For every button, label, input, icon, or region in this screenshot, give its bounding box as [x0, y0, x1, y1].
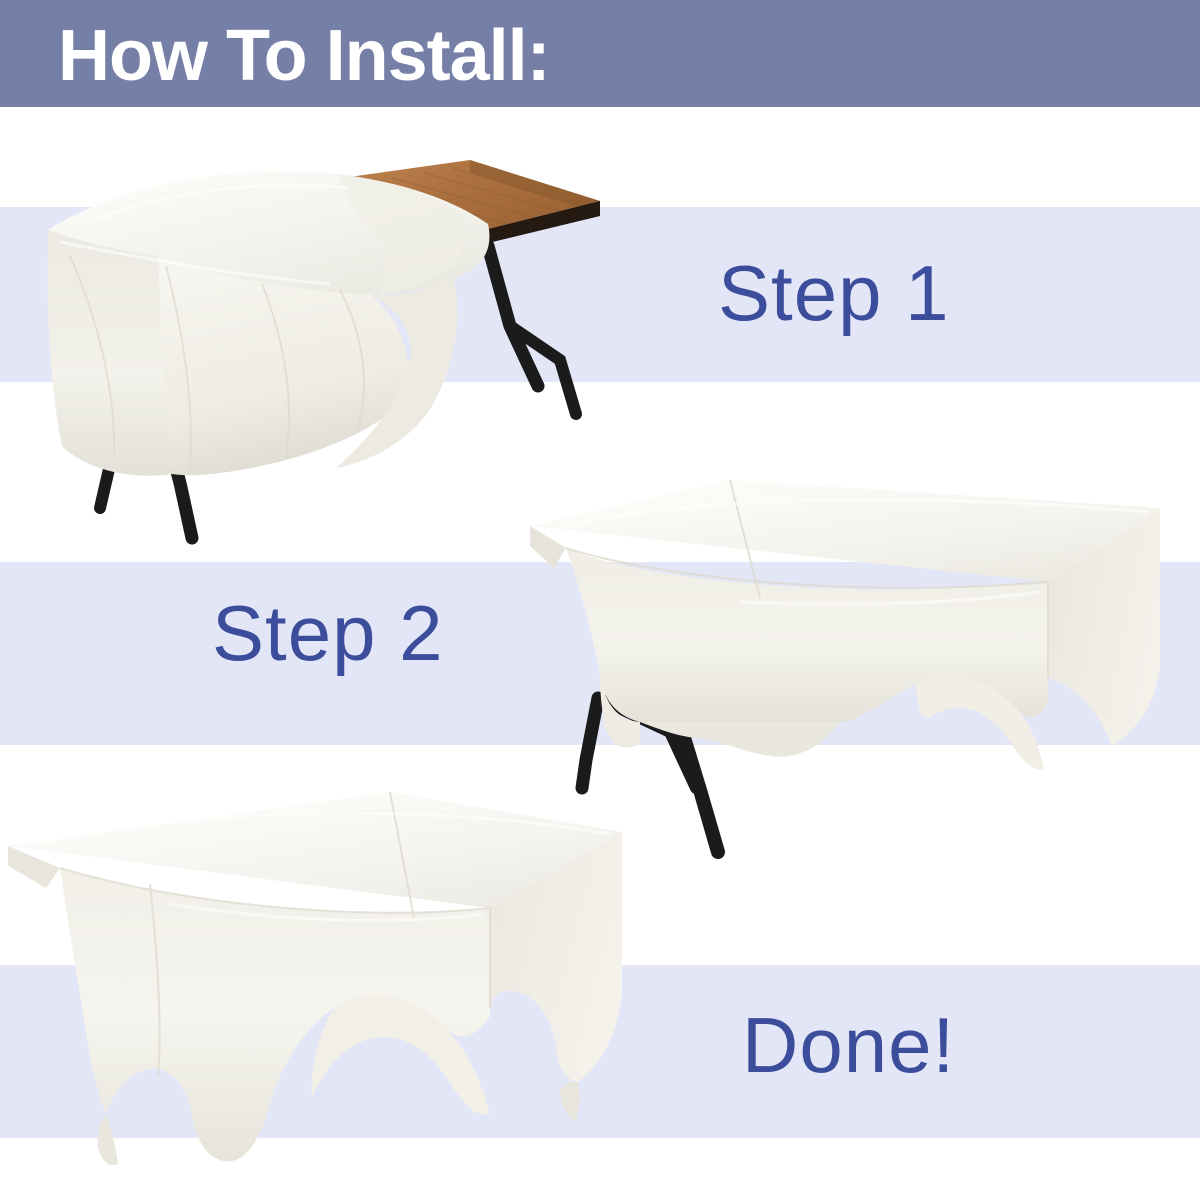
how-to-install-infographic: How To Install: — [0, 0, 1200, 1186]
step-2-label: Step 2 — [212, 594, 444, 672]
spandex-cover-draped — [48, 171, 490, 476]
spandex-cover-partial — [530, 480, 1160, 770]
done-label: Done! — [742, 1006, 955, 1084]
step-1-label: Step 1 — [718, 254, 950, 332]
header-bar: How To Install: — [0, 0, 1200, 107]
page-title: How To Install: — [58, 14, 550, 98]
spandex-cover-full — [8, 792, 622, 1165]
done-illustration — [0, 780, 670, 1186]
